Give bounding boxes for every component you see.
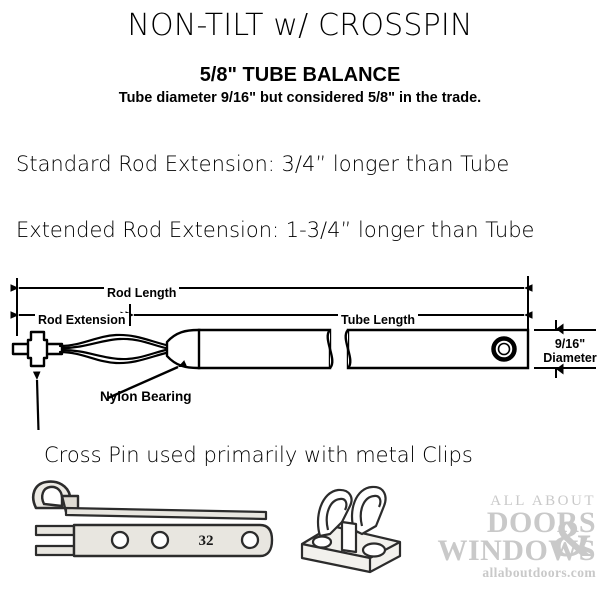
- label-nylon-bearing: Nylon Bearing: [100, 389, 192, 404]
- cross-pin-note: Cross Pin used primarily with metal Clip…: [44, 443, 473, 467]
- balance-technical-drawing: [0, 270, 600, 430]
- witness-lines: [17, 276, 528, 336]
- tube-segment-left: [199, 330, 332, 368]
- diameter-value: 9/16": [555, 337, 585, 351]
- cross-pin-leader: [37, 380, 39, 430]
- metal-clip-illustration: 32: [22, 478, 312, 588]
- clip-hole: [112, 532, 128, 548]
- subtitle-note: Tube diameter 9/16" but considered 5/8" …: [0, 90, 600, 106]
- watermark-logo: ALL ABOUT DOORS WINDOWS allaboutdoors.co…: [398, 494, 596, 594]
- cross-pin-detail: [13, 332, 62, 366]
- clip-upper-blade: [66, 508, 266, 519]
- page-title: NON-TILT w/ CROSSPIN: [0, 8, 600, 43]
- bracket-hole: [363, 544, 385, 557]
- bracket-hole: [313, 537, 331, 548]
- clip-hole: [242, 532, 258, 548]
- extended-rod-extension-spec: Extended Rod Extension: 1-3/4” longer th…: [16, 218, 600, 242]
- label-rod-extension: Rod Extension: [35, 313, 129, 327]
- diameter-word: Diameter: [543, 351, 597, 365]
- watermark-ampersand: &: [551, 514, 594, 566]
- nylon-bearing: [167, 330, 200, 368]
- clip-perforated-bar: 32: [36, 525, 272, 556]
- label-diameter: 9/16" Diameter: [541, 337, 599, 365]
- twisted-rod: [60, 335, 170, 363]
- diagram-page: NON-TILT w/ CROSSPIN 5/8" TUBE BALANCE T…: [0, 0, 600, 600]
- clip-part-stamp: 32: [199, 533, 214, 549]
- subtitle: 5/8" TUBE BALANCE: [0, 64, 600, 87]
- label-rod-length: Rod Length: [104, 286, 179, 300]
- standard-rod-extension-spec: Standard Rod Extension: 3/4” longer than…: [16, 152, 600, 176]
- tube-segment-right: [346, 330, 528, 368]
- mounting-bracket-illustration: [296, 482, 406, 582]
- clip-hole: [152, 532, 168, 548]
- label-tube-length: Tube Length: [338, 313, 418, 327]
